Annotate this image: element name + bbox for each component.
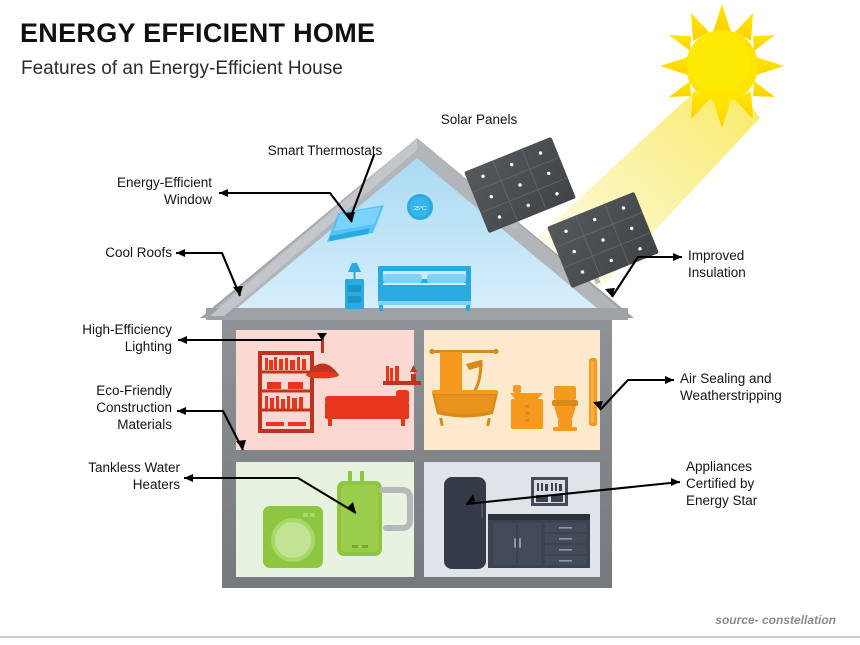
wall-cabinet-icon: [531, 477, 568, 506]
callout-energy-star-appliances: Appliances Certified by Energy Star: [686, 458, 856, 509]
weatherstripped-door-icon: [589, 358, 597, 426]
thermostat-reading: 25°C: [414, 206, 426, 212]
callout-solar-panels: Solar Panels: [404, 111, 554, 128]
callout-energy-efficient-window: Energy-Efficient Window: [60, 174, 212, 208]
infographic-canvas: ENERGY EFFICIENT HOME Features of an Ene…: [0, 0, 860, 645]
callout-eco-friendly-materials: Eco-Friendly Construction Materials: [30, 382, 172, 433]
washing-machine-icon: [263, 506, 323, 568]
callout-high-efficiency-lighting: High-Efficiency Lighting: [40, 321, 172, 355]
callout-tankless-water-heaters: Tankless Water Heaters: [40, 459, 180, 493]
callout-smart-thermostats: Smart Thermostats: [240, 142, 410, 159]
bottom-divider: [0, 636, 860, 638]
smart-thermostat-icon: 25°C: [407, 194, 433, 220]
counter-cabinets-icon: [488, 514, 590, 568]
callout-cool-roofs: Cool Roofs: [40, 244, 172, 261]
source-credit: source- constellation: [715, 613, 836, 627]
callout-air-sealing: Air Sealing and Weatherstripping: [680, 370, 860, 404]
callout-improved-insulation: Improved Insulation: [688, 247, 858, 281]
refrigerator-icon: [444, 477, 486, 569]
